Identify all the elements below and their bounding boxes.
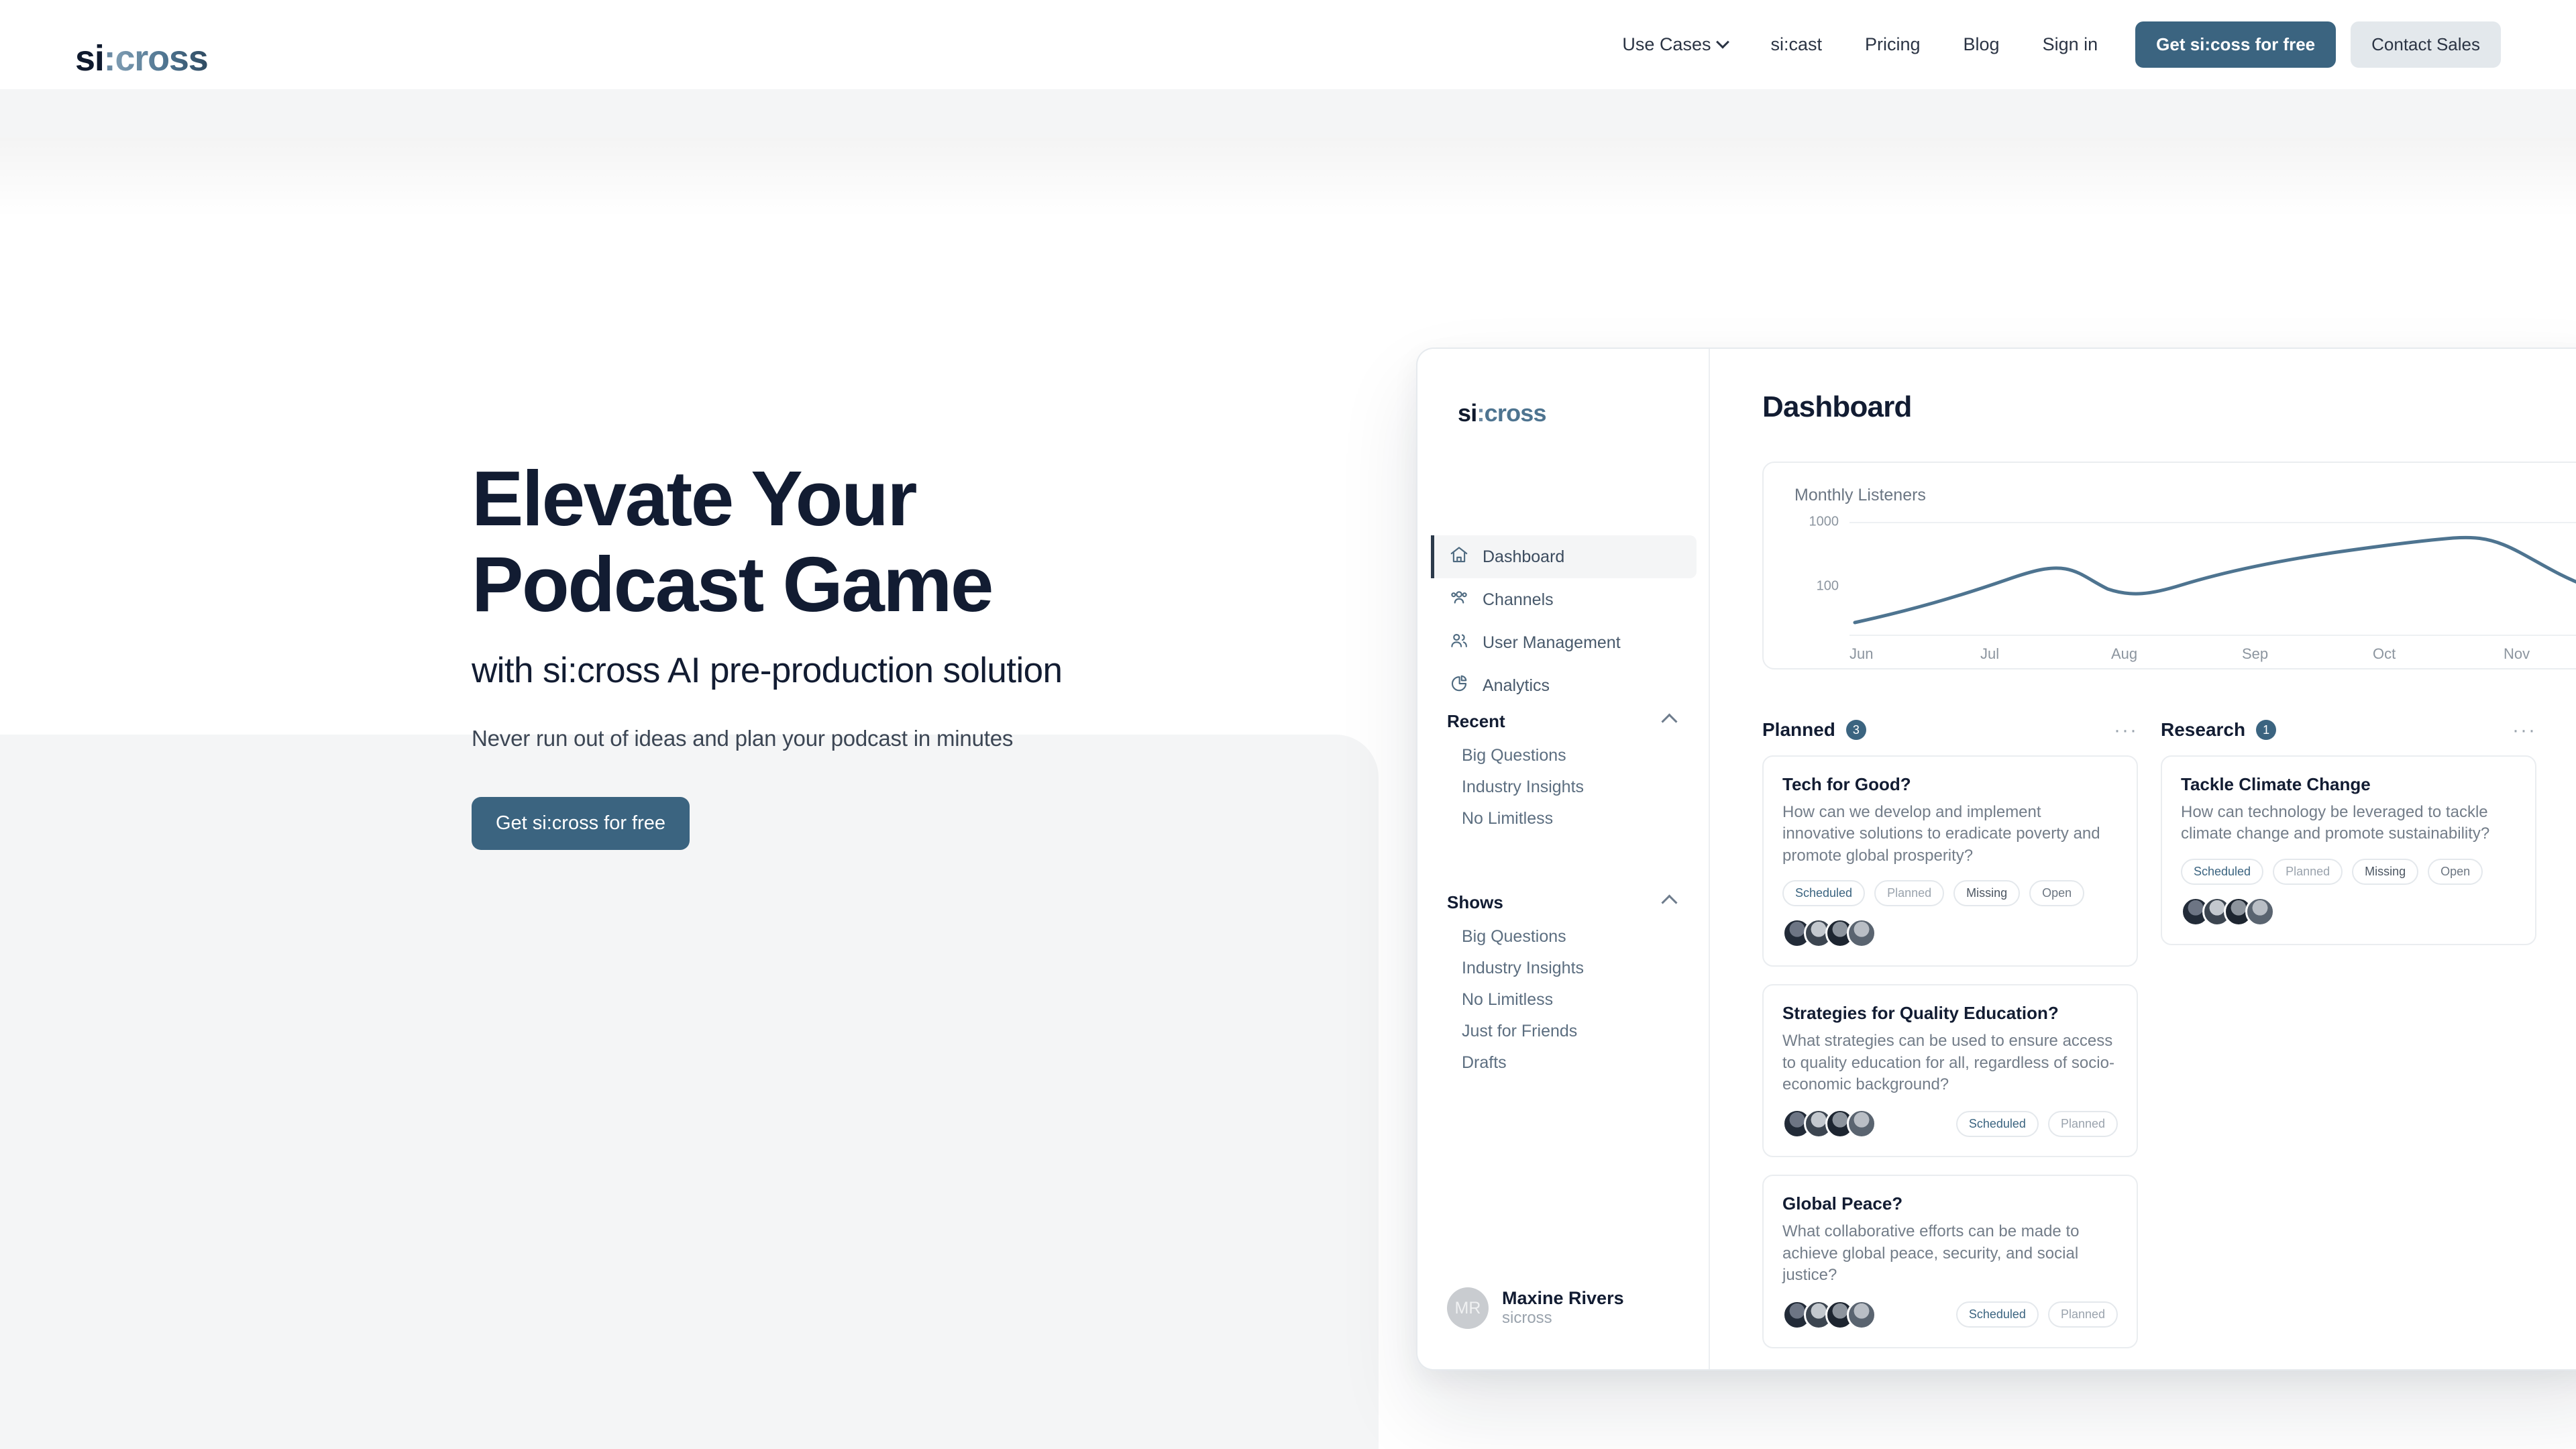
chevron-down-icon — [1717, 35, 1730, 48]
app-preview-panel: si:cross Dashboard Channels — [1416, 347, 2576, 1371]
tag-open[interactable]: Open — [2029, 880, 2084, 906]
status-badge: 1 — [2256, 720, 2276, 740]
logo-part-si: si — [75, 38, 104, 78]
chevron-up-icon — [1661, 894, 1677, 910]
section-header-shows[interactable]: Shows — [1447, 892, 1682, 913]
section-header-recent[interactable]: Recent — [1447, 711, 1682, 732]
chart-title: Monthly Listeners — [1794, 486, 2576, 505]
tag-planned[interactable]: Planned — [2273, 859, 2343, 885]
app-main-content: Dashboard Monthly Listeners 1000 100 Jun… — [1710, 349, 2576, 1369]
x-tick-nov: Nov — [2504, 645, 2576, 663]
card-tags: Scheduled Planned — [1956, 1111, 2118, 1137]
column-menu-icon[interactable]: ··· — [2114, 725, 2138, 735]
card-title: Tech for Good? — [1782, 774, 2118, 795]
hero-heading-line-1: Elevate Your — [472, 455, 916, 542]
home-icon — [1449, 545, 1469, 570]
shows-item-4[interactable]: Drafts — [1447, 1047, 1682, 1079]
tag-scheduled[interactable]: Scheduled — [1956, 1301, 2039, 1328]
card-tags: Scheduled Planned — [1956, 1301, 2118, 1328]
sidebar-item-label: User Management — [1483, 633, 1621, 653]
card-title: Strategies for Quality Education? — [1782, 1003, 2118, 1024]
hero-section: Elevate Your Podcast Game with si:cross … — [472, 456, 1277, 850]
x-tick-aug: Aug — [2111, 645, 2242, 663]
kanban-card[interactable]: Strategies for Quality Education? What s… — [1762, 984, 2138, 1157]
chart-plot-area: 1000 100 — [1849, 522, 2576, 636]
card-avatar-group — [1782, 1300, 1876, 1330]
site-logo[interactable]: si:cross — [75, 40, 208, 76]
tag-scheduled[interactable]: Scheduled — [1956, 1111, 2039, 1137]
recent-item-0[interactable]: Big Questions — [1447, 740, 1682, 771]
app-logo[interactable]: si:cross — [1458, 401, 1546, 425]
chevron-up-icon — [1661, 713, 1677, 729]
sidebar-item-dashboard[interactable]: Dashboard — [1431, 535, 1697, 578]
primary-navigation: Use Cases si:cast Pricing Blog Sign in G… — [1601, 0, 2576, 89]
card-description: How can we develop and implement innovat… — [1782, 802, 2118, 867]
tag-scheduled[interactable]: Scheduled — [2181, 859, 2263, 885]
header-gray-strip — [0, 89, 2576, 138]
card-title: Tackle Climate Change — [2181, 774, 2516, 795]
x-tick-sep: Sep — [2242, 645, 2373, 663]
avatar — [2245, 897, 2275, 926]
tag-planned[interactable]: Planned — [1874, 880, 1944, 906]
avatar — [1847, 918, 1876, 948]
landing-page: si:cross Use Cases si:cast Pricing Blog … — [0, 0, 2576, 1449]
column-header: Planned 3 ··· — [1762, 719, 2138, 741]
tag-planned[interactable]: Planned — [2048, 1111, 2118, 1137]
user-info: Maxine Rivers sicross — [1502, 1288, 1624, 1328]
sidebar-item-analytics[interactable]: Analytics — [1431, 664, 1697, 707]
hero-cta-button[interactable]: Get si:cross for free — [472, 797, 690, 850]
column-title: Planned — [1762, 719, 1835, 741]
hero-heading: Elevate Your Podcast Game — [472, 456, 1277, 627]
card-tags: Scheduled Planned Missing Open — [1782, 880, 2118, 906]
x-tick-oct: Oct — [2373, 645, 2504, 663]
avatar — [1847, 1109, 1876, 1138]
group-icon — [1449, 588, 1469, 612]
sidebar-section-recent: Recent Big Questions Industry Insights N… — [1447, 711, 1682, 835]
sidebar-section-shows: Shows Big Questions Industry Insights No… — [1447, 892, 1682, 1079]
page-title: Dashboard — [1762, 390, 2576, 424]
section-title: Shows — [1447, 892, 1503, 913]
kanban-card[interactable]: Tech for Good? How can we develop and im… — [1762, 755, 2138, 967]
hero-subheading: with si:cross AI pre-production solution — [472, 650, 1277, 691]
pie-chart-icon — [1449, 674, 1469, 698]
site-header: si:cross Use Cases si:cast Pricing Blog … — [0, 0, 2576, 138]
column-menu-icon[interactable]: ··· — [2512, 725, 2536, 735]
card-description: What collaborative efforts can be made t… — [1782, 1221, 2118, 1286]
user-name: Maxine Rivers — [1502, 1288, 1624, 1309]
nav-item-sign-in[interactable]: Sign in — [2021, 34, 2120, 55]
kanban-card[interactable]: Global Peace? What collaborative efforts… — [1762, 1175, 2138, 1348]
kanban-column-research: Research 1 ··· Tackle Climate Change How… — [2161, 719, 2536, 1366]
recent-item-1[interactable]: Industry Insights — [1447, 771, 1682, 803]
tag-missing[interactable]: Missing — [1953, 880, 2020, 906]
column-header: Research 1 ··· — [2161, 719, 2536, 741]
user-org: sicross — [1502, 1309, 1624, 1328]
column-title: Research — [2161, 719, 2245, 741]
shows-item-0[interactable]: Big Questions — [1447, 921, 1682, 953]
nav-item-pricing[interactable]: Pricing — [1843, 34, 1942, 55]
card-tags: Scheduled Planned Missing Open — [2181, 859, 2516, 885]
app-logo-part-si: si — [1458, 399, 1477, 427]
card-avatar-group — [2181, 897, 2516, 926]
hero-heading-line-2: Podcast Game — [472, 541, 992, 628]
sidebar-item-label: Dashboard — [1483, 547, 1564, 567]
y-tick-1000: 1000 — [1809, 515, 1839, 530]
shows-item-2[interactable]: No Limitless — [1447, 984, 1682, 1016]
card-footer: Scheduled Planned — [1782, 1300, 2118, 1330]
monthly-listeners-chart-card: Monthly Listeners 1000 100 Jun Jul Aug S… — [1762, 462, 2576, 669]
card-description: What strategies can be used to ensure ac… — [1782, 1030, 2118, 1095]
chart-x-axis-labels: Jun Jul Aug Sep Oct Nov Dec Jan — [1849, 645, 2576, 663]
user-profile[interactable]: MR Maxine Rivers sicross — [1447, 1287, 1624, 1329]
recent-item-2[interactable]: No Limitless — [1447, 803, 1682, 835]
card-avatar-group — [1782, 918, 2118, 948]
card-title: Global Peace? — [1782, 1193, 2118, 1214]
sidebar-item-label: Analytics — [1483, 676, 1550, 696]
sidebar-item-channels[interactable]: Channels — [1431, 578, 1697, 621]
sidebar-item-user-management[interactable]: User Management — [1431, 621, 1697, 664]
card-footer: Scheduled Planned — [1782, 1109, 2118, 1138]
tag-open[interactable]: Open — [2428, 859, 2483, 885]
avatar — [1847, 1300, 1876, 1330]
section-title: Recent — [1447, 711, 1505, 732]
shows-item-1[interactable]: Industry Insights — [1447, 953, 1682, 984]
get-for-free-button[interactable]: Get si:coss for free — [2135, 21, 2336, 68]
hero-body-text: Never run out of ideas and plan your pod… — [472, 726, 1277, 751]
y-tick-100: 100 — [1817, 579, 1839, 594]
sidebar-item-label: Channels — [1483, 590, 1554, 610]
nav-item-sicast[interactable]: si:cast — [1749, 34, 1843, 55]
tag-missing[interactable]: Missing — [2352, 859, 2418, 885]
nav-item-use-cases[interactable]: Use Cases — [1601, 34, 1749, 55]
nav-item-blog[interactable]: Blog — [1942, 34, 2021, 55]
tag-scheduled[interactable]: Scheduled — [1782, 880, 1865, 906]
avatar: MR — [1447, 1287, 1489, 1329]
app-logo-part-cross: cross — [1485, 399, 1546, 427]
users-icon — [1449, 631, 1469, 655]
card-description: How can technology be leveraged to tackl… — [2181, 802, 2516, 845]
kanban-board: Planned 3 ··· Tech for Good? How can we … — [1762, 719, 2576, 1366]
header-shadow — [0, 138, 2576, 218]
contact-sales-button[interactable]: Contact Sales — [2351, 21, 2501, 68]
logo-colon: : — [104, 38, 115, 78]
logo-part-cross: cross — [115, 38, 207, 78]
app-logo-colon: : — [1477, 399, 1484, 427]
tag-planned[interactable]: Planned — [2048, 1301, 2118, 1328]
kanban-card[interactable]: Tackle Climate Change How can technology… — [2161, 755, 2536, 945]
kanban-column-planned: Planned 3 ··· Tech for Good? How can we … — [1762, 719, 2138, 1366]
app-sidebar: si:cross Dashboard Channels — [1417, 349, 1710, 1369]
card-avatar-group — [1782, 1109, 1876, 1138]
x-tick-jul: Jul — [1980, 645, 2111, 663]
shows-item-3[interactable]: Just for Friends — [1447, 1016, 1682, 1047]
app-nav-list: Dashboard Channels User Management — [1431, 535, 1697, 707]
listeners-line-series — [1849, 522, 2576, 636]
status-badge: 3 — [1846, 720, 1866, 740]
nav-item-label: Use Cases — [1622, 34, 1711, 55]
x-tick-jun: Jun — [1849, 645, 1980, 663]
